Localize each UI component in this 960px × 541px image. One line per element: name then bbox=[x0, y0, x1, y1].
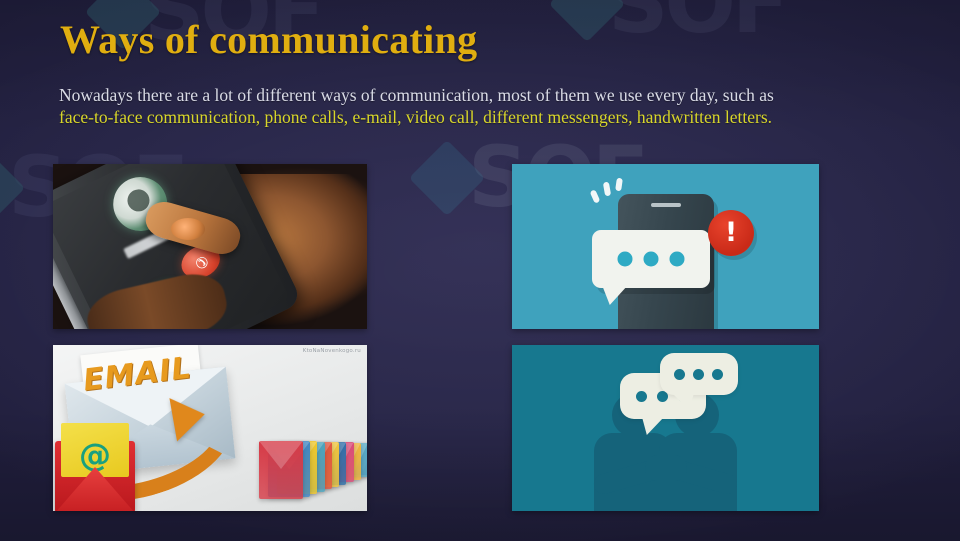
fingertip-shape bbox=[171, 218, 205, 240]
at-symbol-icon: @ bbox=[79, 439, 111, 471]
image-phone-call: ✆ ✆ bbox=[53, 164, 367, 329]
stack-envelope-flap bbox=[259, 441, 303, 469]
image-handshake bbox=[512, 345, 819, 511]
stack-envelope bbox=[259, 441, 303, 499]
message-bubble-icon bbox=[592, 230, 710, 288]
diamond-icon bbox=[409, 140, 485, 216]
typing-dots bbox=[618, 252, 685, 267]
phone-speaker bbox=[651, 203, 681, 207]
source-watermark: KtoNaNovenkogo.ru bbox=[303, 348, 361, 354]
front-envelope-shape: @ bbox=[55, 441, 135, 511]
diamond-icon bbox=[0, 150, 25, 226]
slide-canvas: SOF SOF SOF SOF SOF SOF Ways of communic… bbox=[0, 0, 960, 541]
page-title: Ways of communicating bbox=[60, 16, 477, 63]
phone-hangup-icon: ✆ bbox=[192, 254, 210, 271]
exclamation-glyph: ! bbox=[725, 219, 737, 246]
envelope-stack bbox=[203, 398, 361, 503]
image-sms-alert: ! bbox=[512, 164, 819, 329]
watermark-tile: SOF bbox=[560, 0, 785, 42]
body-paragraph: Nowadays there are a lot of different wa… bbox=[59, 84, 919, 128]
alert-badge-icon: ! bbox=[708, 210, 754, 256]
image-email: EMAIL @ KtoNaNovenkogo.ru bbox=[53, 345, 367, 511]
handshake-grip-shape bbox=[645, 455, 687, 481]
body-line-1: Nowadays there are a lot of different wa… bbox=[59, 85, 774, 105]
diamond-icon bbox=[549, 0, 625, 42]
motion-lines-icon bbox=[590, 176, 634, 210]
body-line-2-highlight: face-to-face communication, phone calls,… bbox=[59, 107, 772, 127]
speech-bubble-icon bbox=[660, 353, 738, 395]
watermark-text: SOF bbox=[608, 0, 785, 42]
